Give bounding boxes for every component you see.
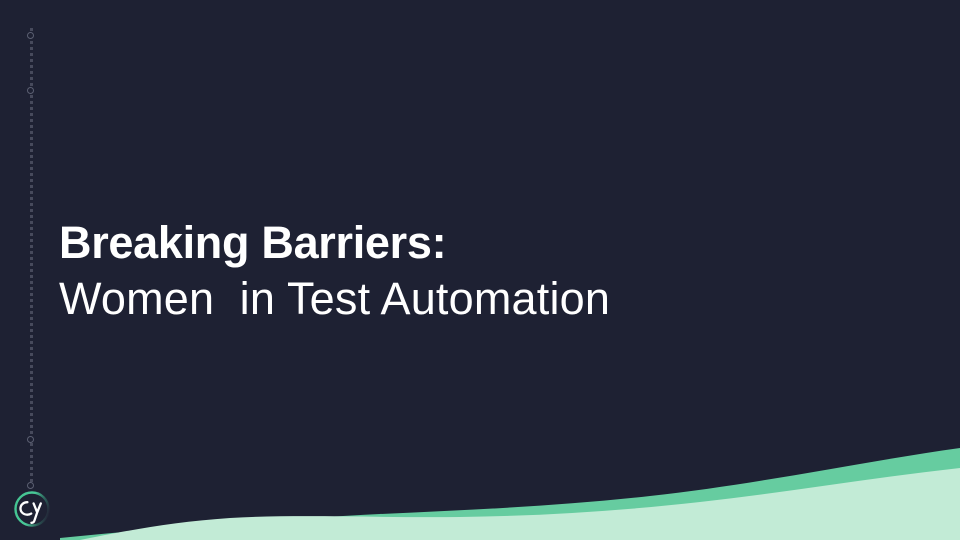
wave-front-band [80,468,960,540]
rail-node-marker [27,482,34,489]
cypress-logo [13,490,51,528]
slide-canvas: Breaking Barriers: Women in Test Automat… [0,0,960,540]
slide-title: Breaking Barriers: Women in Test Automat… [59,215,879,327]
slide-title-line-1: Breaking Barriers: [59,215,879,271]
cypress-logo-c [21,502,32,515]
decorative-wave [0,440,960,540]
cypress-logo-y [31,503,40,522]
dotted-rail [28,28,35,488]
slide-title-line-2: Women in Test Automation [59,271,879,327]
wave-back-band [60,448,960,540]
rail-node-marker [27,87,34,94]
rail-node-marker [27,436,34,443]
rail-node-marker [27,32,34,39]
rail-dotted-line [30,28,33,488]
